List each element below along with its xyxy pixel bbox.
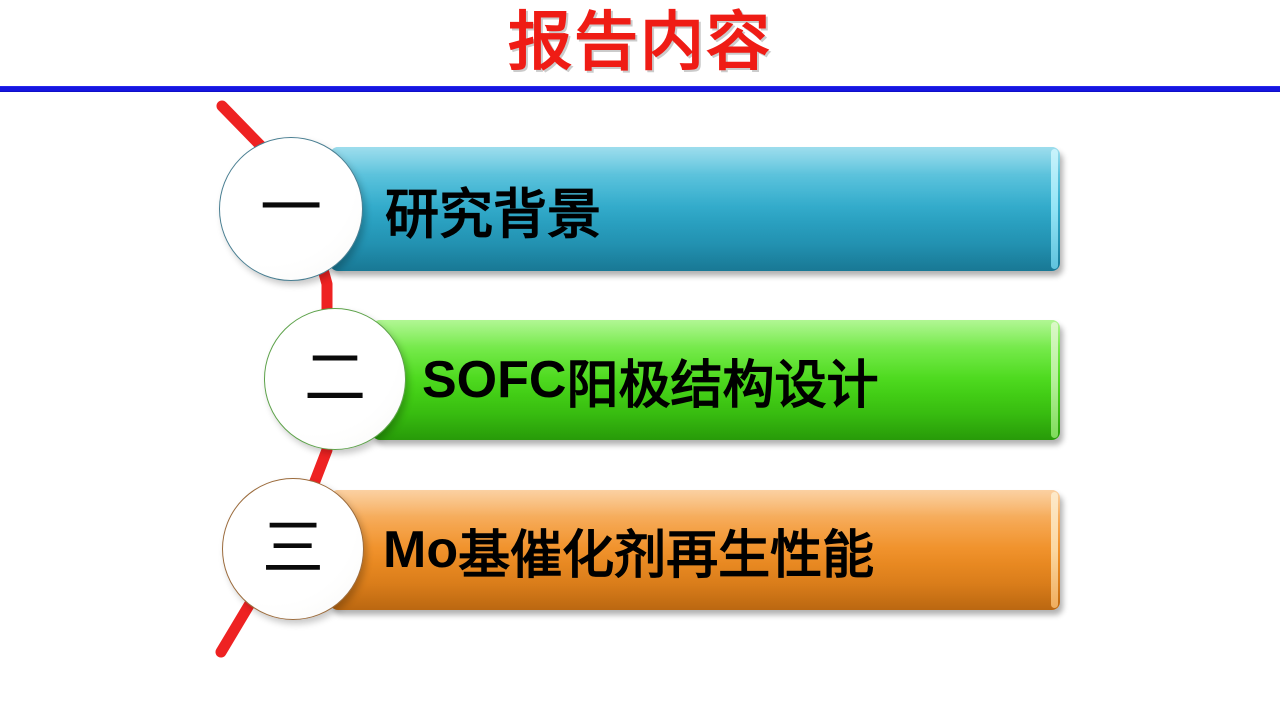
slide-canvas: 报告内容 研究背景 一 SOFC阳极结构设计 二 bbox=[0, 0, 1280, 720]
agenda-number-3: 三 bbox=[262, 518, 324, 580]
agenda-label-1: 研究背景 bbox=[385, 147, 601, 271]
page-title: 报告内容 bbox=[0, 2, 1280, 84]
bar-right-rim bbox=[1051, 322, 1058, 438]
agenda-label-2-han: 阳极结构设计 bbox=[566, 343, 878, 418]
agenda-number-2: 二 bbox=[304, 348, 366, 410]
agenda-label-3: Mo基催化剂再生性能 bbox=[383, 490, 874, 610]
agenda-circle-2[interactable]: 二 bbox=[264, 308, 406, 450]
agenda-label-1-han: 研究背景 bbox=[385, 170, 601, 249]
agenda-label-3-latin: Mo bbox=[383, 520, 458, 580]
bar-right-rim bbox=[1051, 149, 1058, 269]
title-divider bbox=[0, 86, 1280, 92]
agenda-label-2: SOFC阳极结构设计 bbox=[422, 320, 878, 440]
bar-right-rim bbox=[1051, 492, 1058, 608]
agenda-number-1: 一 bbox=[260, 178, 322, 240]
agenda-label-3-han: 基催化剂再生性能 bbox=[458, 513, 874, 588]
agenda-circle-1[interactable]: 一 bbox=[219, 137, 363, 281]
agenda-circle-3[interactable]: 三 bbox=[222, 478, 364, 620]
agenda-label-2-latin: SOFC bbox=[422, 350, 566, 410]
